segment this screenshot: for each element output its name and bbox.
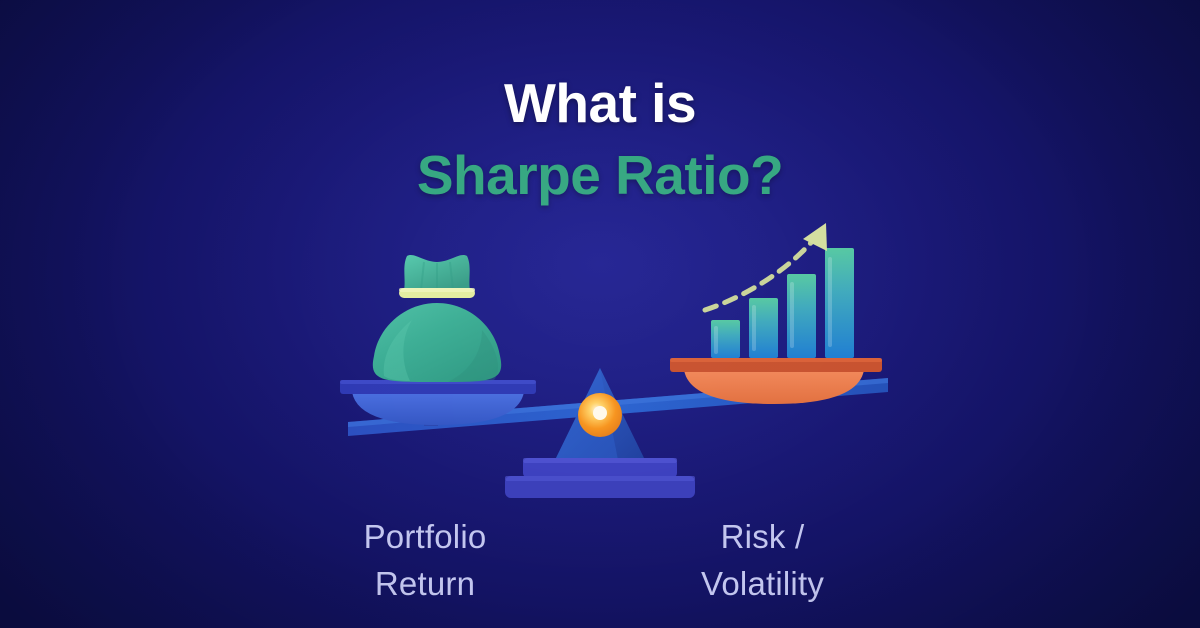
scale-base (505, 458, 695, 498)
caption-left-line-1: Portfolio (290, 514, 560, 561)
caption-right-line-2: Volatility (640, 561, 885, 608)
growth-bar-chart (711, 248, 854, 358)
caption-left-line-2: Return (290, 561, 560, 608)
caption-portfolio-return: Portfolio Return (290, 514, 560, 608)
sharpe-ratio-infographic: What is Sharpe Ratio? (0, 0, 1200, 628)
title-line-2: Sharpe Ratio? (0, 146, 1200, 204)
caption-right-line-1: Risk / (640, 514, 885, 561)
fulcrum-pivot (578, 393, 622, 437)
caption-risk-volatility: Risk / Volatility (640, 514, 885, 608)
page-title: What is Sharpe Ratio? (0, 74, 1200, 205)
title-line-1: What is (0, 74, 1200, 132)
balance-scale-illustration (0, 210, 1200, 510)
balance-scale-svg (0, 210, 1200, 510)
money-bag-icon (373, 255, 501, 382)
